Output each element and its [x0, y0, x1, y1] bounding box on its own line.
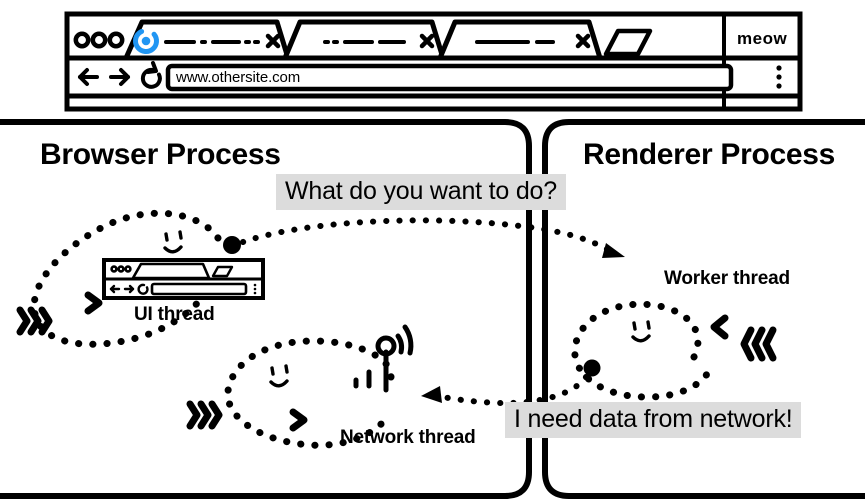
ui-thread-nose-dot	[223, 236, 241, 254]
arrowhead-to-worker	[602, 243, 625, 258]
tab-active[interactable]	[126, 22, 288, 58]
ui-thread-face	[165, 232, 181, 252]
worker-thread-paw	[714, 318, 725, 336]
arrow-worker-to-network	[421, 377, 586, 403]
worker-thread-face	[633, 322, 649, 341]
browser-process-title: Browser Process	[40, 140, 281, 170]
network-thread-face	[271, 366, 287, 386]
browser-menu-icon[interactable]	[776, 65, 781, 88]
ui-thread-label: UI thread	[134, 305, 215, 324]
worker-thread-tail	[744, 330, 773, 358]
worker-thread-creature	[575, 304, 773, 397]
network-thread-label: Network thread	[340, 428, 476, 447]
renderer-process-title: Renderer Process	[583, 140, 835, 170]
tab-2[interactable]	[285, 22, 443, 58]
worker-thread-label: Worker thread	[664, 269, 790, 288]
url-text[interactable]: www.othersite.com	[176, 70, 300, 85]
network-thread-paw	[293, 412, 304, 428]
wifi-antenna-icon	[356, 327, 411, 390]
window-label-meow: meow	[737, 30, 787, 47]
renderer-process-panel	[545, 122, 865, 496]
message-bubble-need-data: I need data from network!	[505, 402, 801, 438]
message-bubble-what-do-you-want: What do you want to do?	[276, 174, 566, 210]
tab-3[interactable]	[440, 22, 600, 58]
ui-thread-tail	[20, 310, 49, 332]
arrow-ui-to-worker	[243, 220, 625, 258]
arrowhead-to-network	[421, 386, 442, 403]
mini-browser-icon	[104, 260, 263, 298]
network-thread-tail	[190, 404, 219, 426]
ui-thread-paw	[88, 295, 99, 311]
worker-thread-nose-dot	[584, 360, 601, 377]
diagram-canvas: meow www.othersite.com Browser Process R…	[0, 0, 865, 504]
